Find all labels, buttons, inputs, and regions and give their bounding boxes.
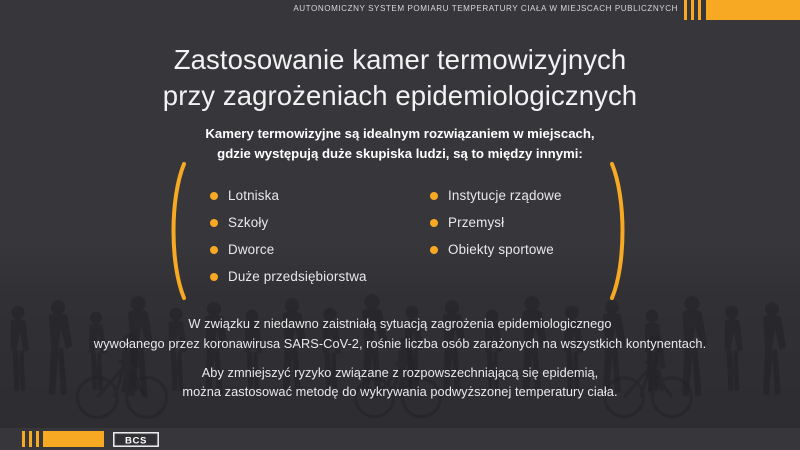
body-paragraph-2-line-2: można zastosować metodę do wykrywania po… bbox=[0, 382, 800, 402]
body-paragraph-2: Aby zmniejszyć ryzyko związane z rozpows… bbox=[0, 363, 800, 403]
bcs-logo-text: BCS bbox=[125, 435, 147, 446]
footer-accent-bar-wide bbox=[43, 431, 104, 447]
bullet-dot-icon bbox=[430, 192, 438, 200]
bullet-label: Lotniska bbox=[228, 188, 279, 203]
bullet-label: Szkoły bbox=[228, 215, 268, 230]
bullet-label: Duże przedsiębiorstwa bbox=[228, 269, 367, 284]
list-item: Przemysł bbox=[430, 209, 562, 236]
slide-title: Zastosowanie kamer termowizyjnych przy z… bbox=[0, 42, 800, 115]
slide-canvas: AUTONOMICZNY SYSTEM POMIARU TEMPERATURY … bbox=[0, 0, 800, 450]
bullet-dot-icon bbox=[210, 246, 218, 254]
list-item: Duże przedsiębiorstwa bbox=[210, 263, 367, 290]
slide-subtitle-line-1: Kamery termowizyjne są idealnym rozwiąza… bbox=[0, 124, 800, 144]
footer-accent-bar-1 bbox=[22, 431, 25, 447]
body-paragraph-2-line-1: Aby zmniejszyć ryzyko związane z rozpows… bbox=[0, 363, 800, 383]
list-item: Szkoły bbox=[210, 209, 367, 236]
bullet-label: Instytucje rządowe bbox=[448, 188, 562, 203]
list-item: Instytucje rządowe bbox=[430, 182, 562, 209]
left-bracket-icon bbox=[158, 160, 198, 302]
header-accent-bar-1 bbox=[684, 0, 687, 20]
footer-bar: BCS bbox=[0, 428, 800, 450]
bullet-label: Dworce bbox=[228, 242, 274, 257]
list-item: Dworce bbox=[210, 236, 367, 263]
bullet-dot-icon bbox=[430, 246, 438, 254]
body-paragraph-1-line-2: wywołanego przez koronawirusa SARS-CoV-2… bbox=[0, 334, 800, 354]
body-paragraph-1-line-1: W związku z niedawno zaistniałą sytuacją… bbox=[0, 314, 800, 334]
bcs-logo: BCS bbox=[113, 432, 159, 447]
body-paragraph-1: W związku z niedawno zaistniałą sytuacją… bbox=[0, 314, 800, 354]
bullet-column-right: Instytucje rządowe Przemysł Obiekty spor… bbox=[430, 182, 562, 263]
bullet-label: Przemysł bbox=[448, 215, 504, 230]
footer-accent-bar-3 bbox=[36, 431, 39, 447]
slide-subtitle: Kamery termowizyjne są idealnym rozwiąza… bbox=[0, 124, 800, 163]
header-bar: AUTONOMICZNY SYSTEM POMIARU TEMPERATURY … bbox=[0, 0, 800, 20]
header-accent-bar-3 bbox=[698, 0, 701, 20]
slide-title-line-2: przy zagrożeniach epidemiologicznych bbox=[0, 78, 800, 114]
bullet-dot-icon bbox=[210, 192, 218, 200]
header-accent-bar-2 bbox=[691, 0, 694, 20]
list-item: Obiekty sportowe bbox=[430, 236, 562, 263]
header-eyebrow-text: AUTONOMICZNY SYSTEM POMIARU TEMPERATURY … bbox=[293, 4, 678, 13]
right-bracket-icon bbox=[598, 160, 638, 302]
bullet-label: Obiekty sportowe bbox=[448, 242, 554, 257]
bullet-dot-icon bbox=[210, 273, 218, 281]
bullet-section: Lotniska Szkoły Dworce Duże przedsiębior… bbox=[0, 160, 800, 305]
list-item: Lotniska bbox=[210, 182, 367, 209]
bullet-dot-icon bbox=[210, 219, 218, 227]
footer-accent-bar-2 bbox=[29, 431, 32, 447]
body-text-block: W związku z niedawno zaistniałą sytuacją… bbox=[0, 314, 800, 402]
header-accent-bar-wide bbox=[706, 0, 800, 20]
bullet-dot-icon bbox=[430, 219, 438, 227]
slide-title-line-1: Zastosowanie kamer termowizyjnych bbox=[0, 42, 800, 78]
bullet-column-left: Lotniska Szkoły Dworce Duże przedsiębior… bbox=[210, 182, 367, 290]
